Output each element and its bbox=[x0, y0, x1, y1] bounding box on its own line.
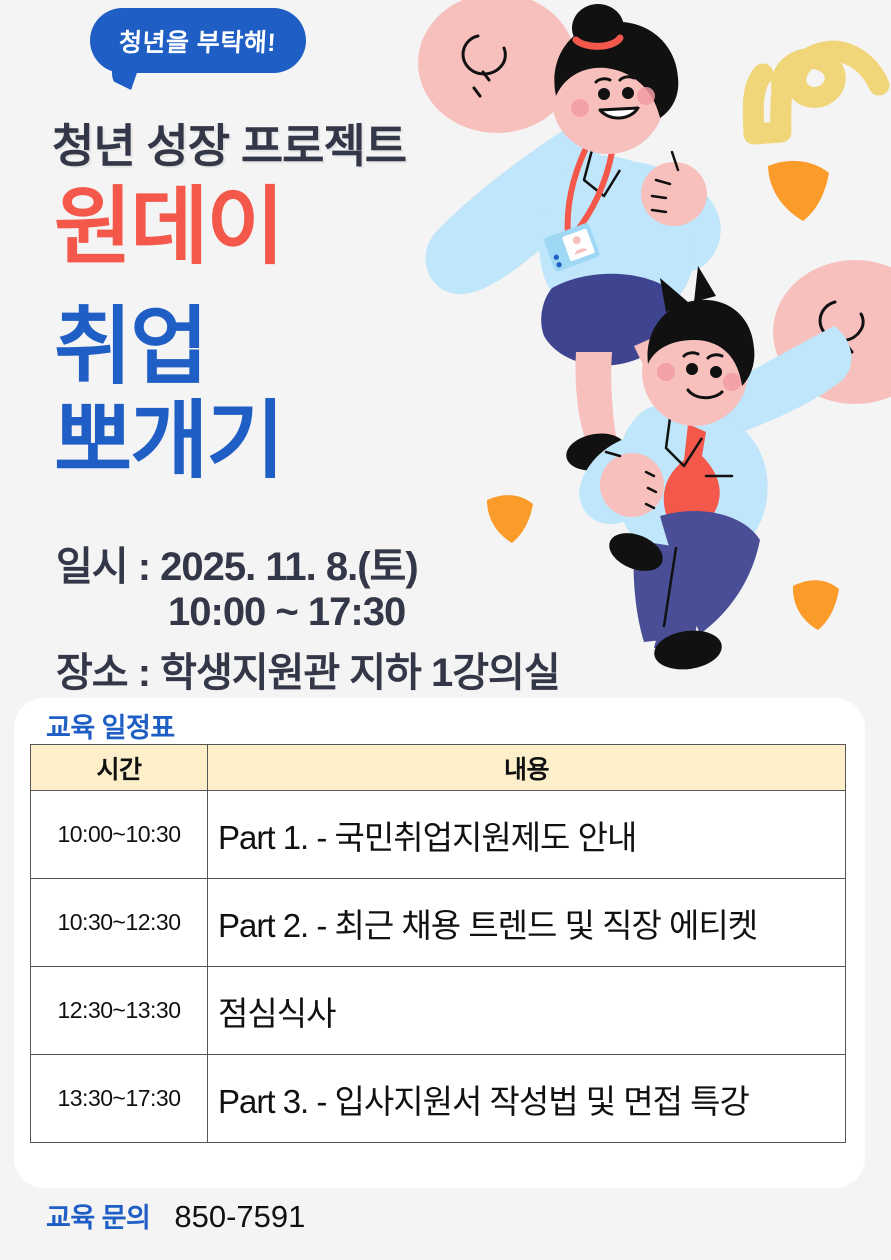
cell-time: 10:30~12:30 bbox=[31, 879, 208, 967]
event-date: 일시 : 2025. 11. 8.(토) bbox=[56, 534, 418, 592]
speech-bubble-text: 청년을 부탁해! bbox=[118, 23, 277, 59]
cell-content: Part 1. - 국민취업지원제도 안내 bbox=[208, 791, 846, 879]
table-row: 12:30~13:30 점심식사 bbox=[31, 967, 846, 1055]
main-title-line-1: 원데이 bbox=[54, 186, 283, 269]
male-office-worker bbox=[579, 266, 851, 674]
schedule-table: 시간 내용 10:00~10:30 Part 1. - 국민취업지원제도 안내 … bbox=[30, 744, 846, 1143]
table-row: 10:30~12:30 Part 2. - 최근 채용 트렌드 및 직장 에티켓 bbox=[31, 879, 846, 967]
column-header-time: 시간 bbox=[31, 745, 208, 791]
cell-content: Part 2. - 최근 채용 트렌드 및 직장 에티켓 bbox=[208, 879, 846, 967]
schedule-title: 교육 일정표 bbox=[46, 706, 175, 745]
balloon-shapes bbox=[418, 0, 891, 404]
confetti-pieces bbox=[487, 161, 839, 630]
confetti-ribbon bbox=[753, 51, 879, 134]
contact-phone: 850-7591 bbox=[174, 1199, 305, 1235]
contact-footer: 교육 문의 850-7591 bbox=[46, 1196, 305, 1235]
speech-bubble: 청년을 부탁해! bbox=[90, 8, 306, 73]
cell-time: 10:00~10:30 bbox=[31, 791, 208, 879]
poster-canvas: 청년을 부탁해! 청년 성장 프로젝트 원데이 취업 뽀개기 일시 : 2025… bbox=[0, 0, 891, 1260]
program-subtitle: 청년 성장 프로젝트 bbox=[52, 110, 406, 176]
main-title-line-2: 취업 bbox=[54, 306, 206, 389]
event-time: 10:00 ~ 17:30 bbox=[168, 590, 405, 635]
cell-content: 점심식사 bbox=[208, 967, 846, 1055]
female-office-worker bbox=[426, 4, 721, 475]
table-header-row: 시간 내용 bbox=[31, 745, 846, 791]
table-row: 10:00~10:30 Part 1. - 국민취업지원제도 안내 bbox=[31, 791, 846, 879]
event-place: 장소 : 학생지원관 지하 1강의실 bbox=[56, 640, 560, 698]
cell-content: Part 3. - 입사지원서 작성법 및 면접 특강 bbox=[208, 1055, 846, 1143]
contact-label: 교육 문의 bbox=[46, 1196, 150, 1235]
cell-time: 13:30~17:30 bbox=[31, 1055, 208, 1143]
cell-time: 12:30~13:30 bbox=[31, 967, 208, 1055]
main-title-line-3: 뽀개기 bbox=[54, 400, 283, 483]
column-header-content: 내용 bbox=[208, 745, 846, 791]
table-row: 13:30~17:30 Part 3. - 입사지원서 작성법 및 면접 특강 bbox=[31, 1055, 846, 1143]
